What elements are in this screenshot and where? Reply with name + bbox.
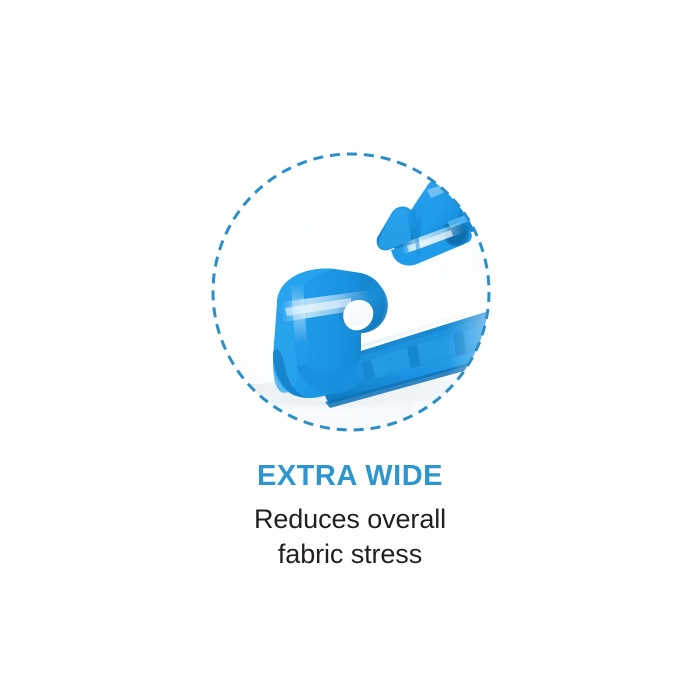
headline: EXTRA WIDE: [0, 462, 700, 491]
subtitle-line-1: Reduces overall: [0, 502, 700, 537]
caption-block: EXTRA WIDE Reduces overall fabric stress: [0, 462, 700, 572]
rail-fade: [447, 272, 511, 382]
subtitle-line-2: fabric stress: [0, 537, 700, 572]
product-figure: [211, 152, 491, 432]
page-canvas: EXTRA WIDE Reduces overall fabric stress: [0, 0, 700, 700]
